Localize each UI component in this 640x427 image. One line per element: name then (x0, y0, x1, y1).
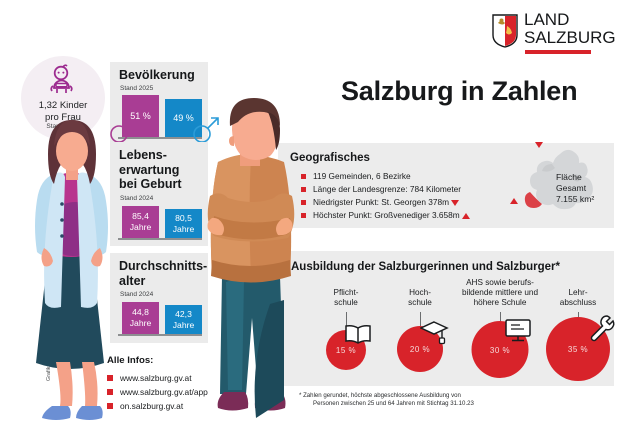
bar-value: 42,3 (175, 309, 192, 320)
label-line-2: abschluss (543, 298, 613, 308)
page-title: Salzburg in Zahlen (341, 76, 577, 107)
baby-icon (46, 64, 80, 100)
education-label: AHS sowie berufs- bildende mittlere und … (445, 278, 555, 308)
card-durchschnittsalter: Durchschnitts- alter Stand 2024 44,8 Jah… (110, 253, 208, 343)
card-bevoelkerung-title: Bevölkerung (119, 68, 195, 82)
title-line-1: Lebens- (119, 148, 182, 163)
title-line-1: Durchschnitts- (119, 259, 207, 274)
link-salzburg-gv-at-app[interactable]: www.salzburg.gv.at/app (107, 385, 208, 399)
logo-wordmark: LAND SALZBURG (524, 12, 616, 46)
education-label: Pflicht- schule (311, 288, 381, 308)
map-area-label: Fläche Gesamt 7.155 km² (556, 172, 594, 205)
logo-underline (525, 50, 591, 54)
label-line-1: Lehr- (543, 288, 613, 298)
logo-line-1: LAND (524, 12, 616, 28)
logo-line-2: SALZBURG (524, 30, 616, 46)
bar-unit: Jahre (130, 318, 152, 329)
item-text: 119 Gemeinden, 6 Bezirke (313, 171, 411, 181)
card-lebenserwartung-note: Stand 2024 (120, 195, 153, 202)
wrench-icon (587, 313, 617, 343)
man-illustration (196, 96, 308, 426)
chart-baseline (118, 238, 202, 240)
bar-unit: Jahre (130, 222, 152, 233)
triangle-down-icon (451, 200, 459, 206)
links-section: Alle Infos: www.salzburg.gv.at www.salzb… (107, 355, 208, 413)
card-lebenserwartung: Lebens- erwartung bei Geburt Stand 2024 … (110, 142, 208, 246)
education-label: Lehr- abschluss (543, 288, 613, 308)
card-durchschnittsalter-note: Stand 2024 (120, 291, 153, 298)
woman-illustration (24, 118, 122, 424)
infographic-canvas: LAND SALZBURG Salzburg in Zahlen 1,32 Ki… (0, 0, 640, 427)
panel-ausbildung: Ausbildung der Salzburgerinnen und Salzb… (278, 251, 614, 386)
list-item: Höchster Punkt: Großvenediger 3.658m (301, 209, 470, 222)
education-percent: 35 % (568, 345, 588, 354)
bar-unit: Jahre (173, 320, 195, 331)
bar-value: 44,8 (132, 307, 149, 318)
bar-unit: Jahre (173, 224, 195, 235)
education-percent: 30 % (490, 346, 510, 355)
graduation-cap-icon (420, 319, 450, 347)
card-lebenserwartung-title: Lebens- erwartung bei Geburt (119, 148, 182, 192)
geografisches-list: 119 Gemeinden, 6 Bezirke Länge der Lande… (301, 170, 470, 222)
bar-value: 85,4 (132, 211, 149, 222)
salzburg-coat-of-arms-icon (492, 14, 518, 48)
links-heading: Alle Infos: (107, 355, 208, 366)
decorative-wedge (254, 300, 284, 420)
label-line-1: AHS sowie berufs- (445, 278, 555, 288)
map-highest-point-marker-icon (510, 198, 518, 204)
bar-value: 80,5 (175, 213, 192, 224)
label-line-1: Pflicht- (311, 288, 381, 298)
card-durchschnittsalter-title: Durchschnitts- alter (119, 259, 207, 288)
education-footnote: * Zahlen gerundet, höchste abgeschlossen… (299, 392, 599, 409)
map-label-line2: Gesamt (556, 183, 594, 194)
item-text: Länge der Landesgrenze: 784 Kilometer (313, 184, 461, 194)
links-list: www.salzburg.gv.at www.salzburg.gv.at/ap… (107, 371, 208, 413)
title-line-2: alter (119, 274, 207, 289)
bar-female-life-expectancy: 85,4 Jahre (122, 206, 159, 238)
item-text: Höchster Punkt: Großvenediger 3.658m (313, 210, 460, 220)
footnote-line-2: Personen zwischen 25 und 64 Jahren mit S… (299, 400, 599, 408)
title-line-2: erwartung (119, 163, 182, 178)
ausbildung-heading: Ausbildung der Salzburgerinnen und Salzb… (291, 261, 560, 273)
label-line-2: schule (311, 298, 381, 308)
bar-female-average-age: 44,8 Jahre (122, 302, 159, 334)
title-line-3: bei Geburt (119, 177, 182, 192)
list-item: Länge der Landesgrenze: 784 Kilometer (301, 183, 470, 196)
card-bevoelkerung: Bevölkerung Stand 2025 51 % 49 % (110, 62, 208, 146)
list-item: Niedrigster Punkt: St. Georgen 378m (301, 196, 470, 209)
map-label-line3: 7.155 km² (556, 194, 594, 205)
label-line-2: bildende mittlere und (445, 288, 555, 298)
label-line-3: höhere Schule (445, 298, 555, 308)
monitor-icon (504, 317, 534, 345)
card-bevoelkerung-note: Stand 2025 (120, 85, 153, 92)
fertility-value-line1: 1,32 Kinder (21, 100, 105, 112)
land-salzburg-logo: LAND SALZBURG (492, 12, 632, 56)
footnote-line-1: * Zahlen gerundet, höchste abgeschlossen… (299, 392, 461, 399)
link-on-salzburg-gv-at[interactable]: on.salzburg.gv.at (107, 399, 208, 413)
open-book-icon (344, 323, 372, 345)
list-item: 119 Gemeinden, 6 Bezirke (301, 170, 470, 183)
map-label-line1: Fläche (556, 172, 594, 183)
triangle-up-icon (462, 213, 470, 219)
education-percent: 15 % (336, 346, 356, 355)
map-lowest-point-marker-icon (535, 142, 543, 148)
chart-baseline (118, 334, 202, 336)
link-salzburg-gv-at[interactable]: www.salzburg.gv.at (107, 371, 208, 385)
item-text: Niedrigster Punkt: St. Georgen 378m (313, 197, 449, 207)
salzburg-map: Fläche Gesamt 7.155 km² (508, 140, 640, 232)
